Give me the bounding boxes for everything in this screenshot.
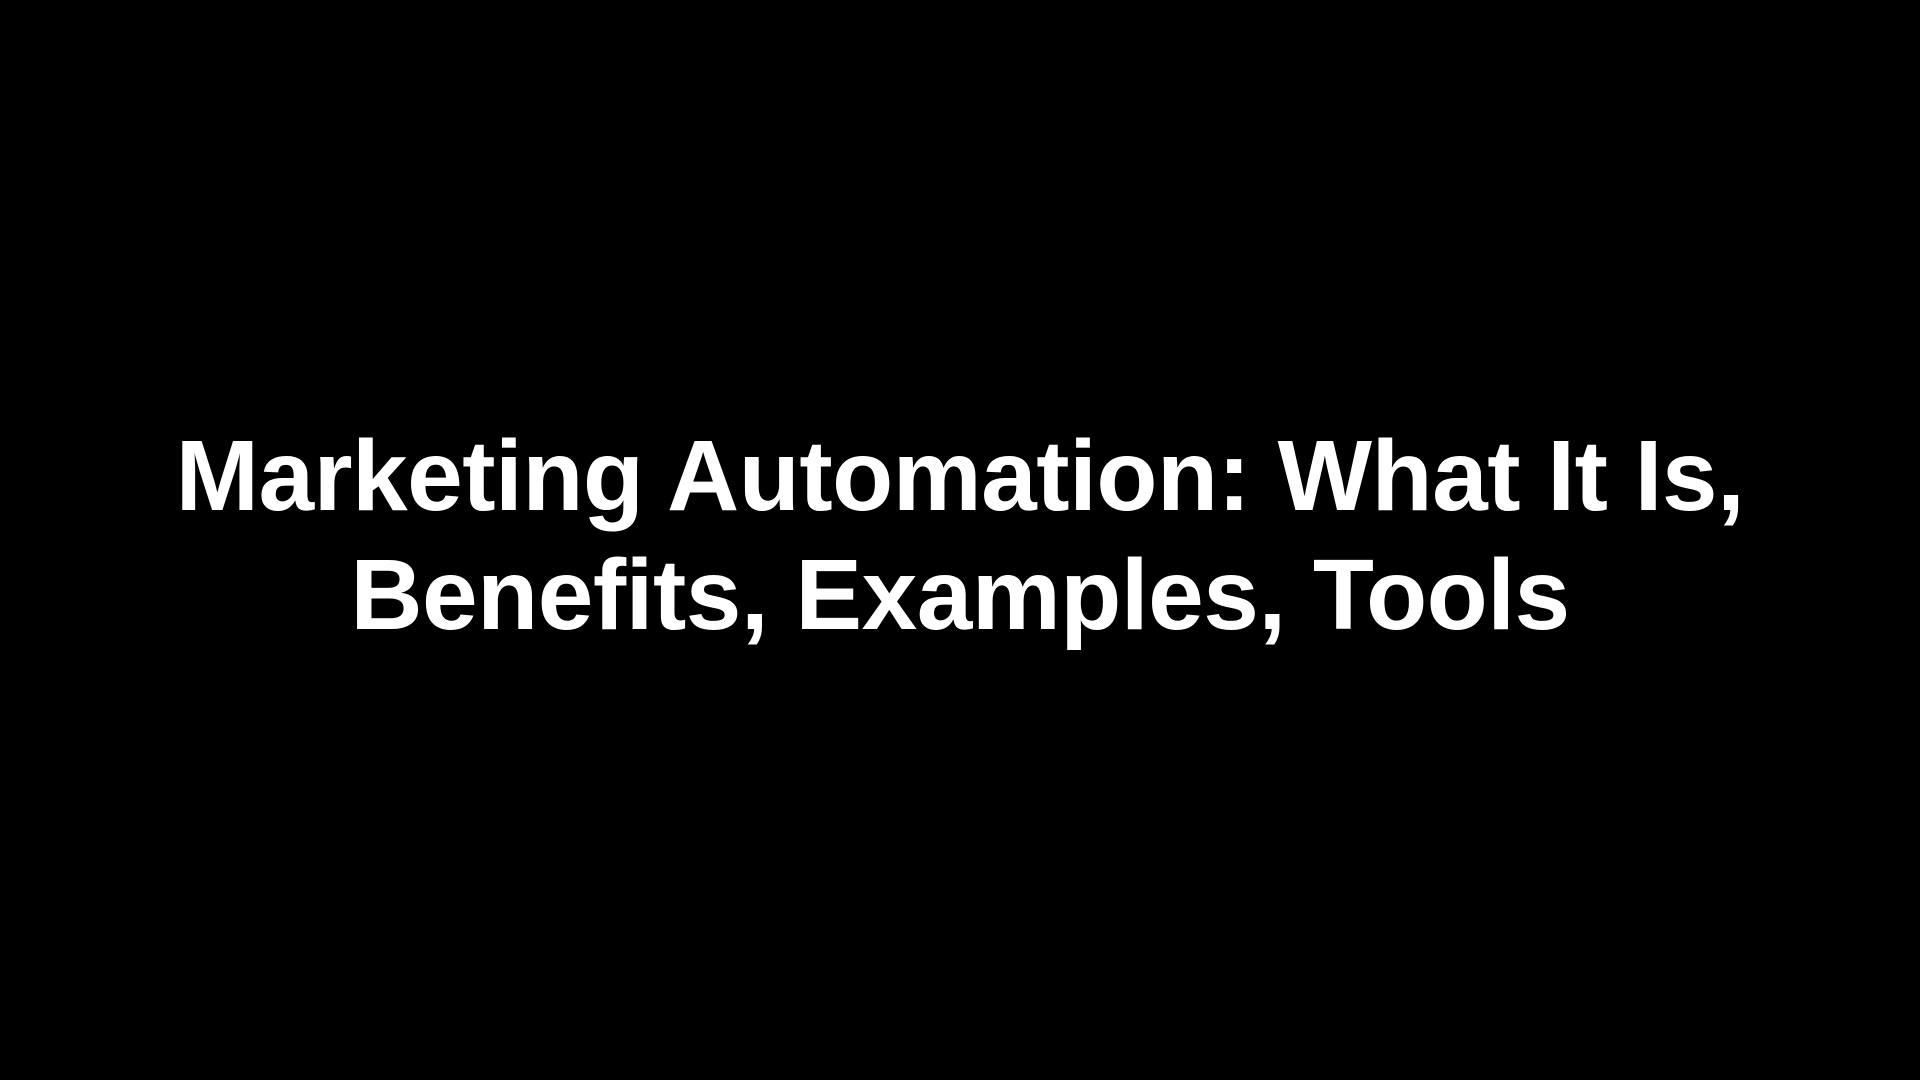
page-title: Marketing Automation: What It Is, Benefi… [130,417,1790,655]
page-canvas: Marketing Automation: What It Is, Benefi… [0,0,1920,1080]
hero-section: Marketing Automation: What It Is, Benefi… [110,417,1810,655]
